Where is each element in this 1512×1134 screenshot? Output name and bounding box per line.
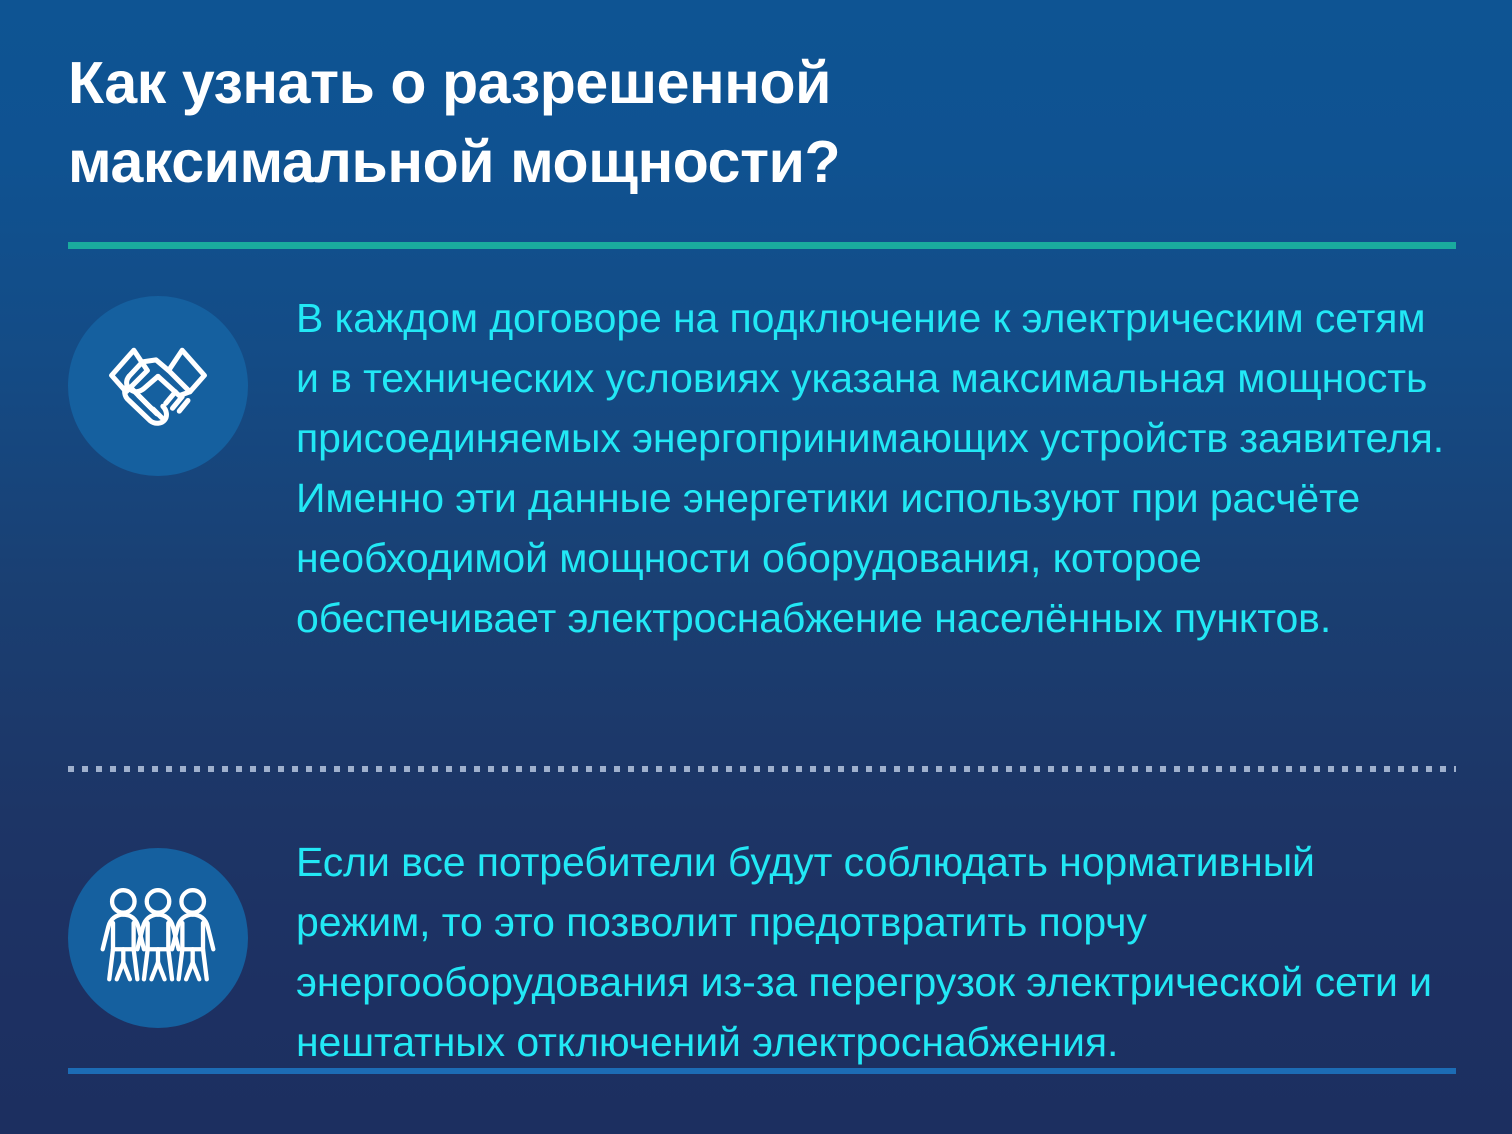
section-divider-dotted (68, 766, 1456, 772)
icon-cell (68, 832, 250, 1028)
section-body-text: В каждом договоре на подключение к элект… (296, 288, 1458, 648)
handshake-icon (100, 328, 216, 444)
infographic-poster: Как узнать о разрешенной максимальной мо… (0, 0, 1512, 1134)
title-divider (68, 242, 1456, 249)
body-cell: Если все потребители будут соблюдать нор… (250, 832, 1458, 1072)
section-row-consumers: Если все потребители будут соблюдать нор… (68, 832, 1458, 1072)
icon-circle (68, 848, 248, 1028)
page-title: Как узнать о разрешенной максимальной мо… (68, 44, 1458, 202)
three-people-icon (98, 880, 218, 996)
bottom-divider (68, 1068, 1456, 1074)
icon-cell (68, 288, 250, 476)
body-cell: В каждом договоре на подключение к элект… (250, 288, 1458, 648)
section-body-text: Если все потребители будут соблюдать нор… (296, 832, 1458, 1072)
section-row-contract: В каждом договоре на подключение к элект… (68, 288, 1458, 648)
title-block: Как узнать о разрешенной максимальной мо… (68, 44, 1458, 202)
icon-circle (68, 296, 248, 476)
